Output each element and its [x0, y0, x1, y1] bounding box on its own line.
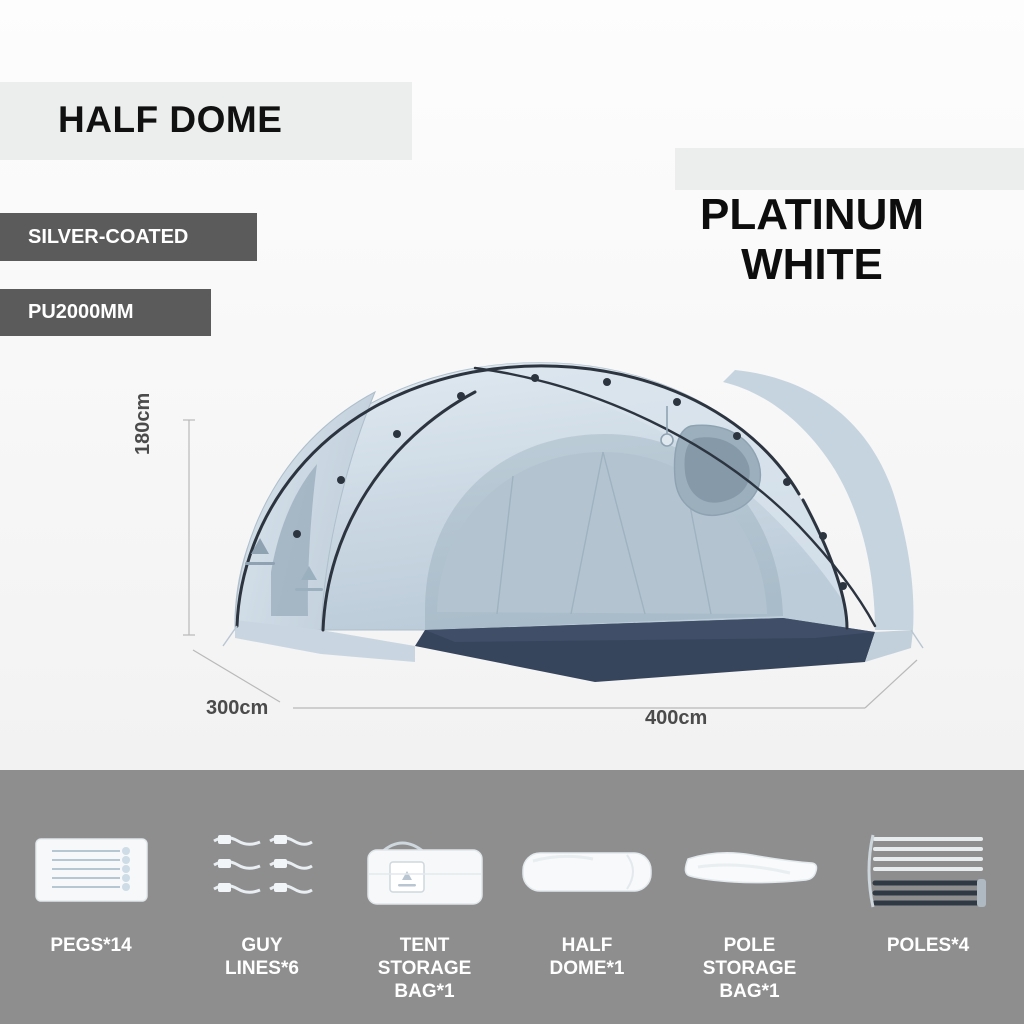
guy-lines-icon: [202, 826, 322, 918]
title-plate: HALF DOME: [0, 82, 412, 160]
tent-storage-bag-icon: [360, 826, 490, 918]
product-infographic: HALF DOME SILVER-COATED PU2000MM PLATINU…: [0, 0, 1024, 1024]
accessory-poles: POLES*4: [832, 770, 1024, 1024]
accessory-label-tent-storage-bag: TENT STORAGE BAG*1: [378, 934, 472, 1003]
pegs-icon: [34, 826, 149, 918]
badge-silver-coated: SILVER-COATED: [0, 213, 257, 261]
tent-illustration: [175, 330, 965, 750]
accessories-section: PEGS*14: [0, 770, 1024, 1024]
accessory-pegs: PEGS*14: [0, 770, 182, 1024]
accessory-label-pole-storage-bag: POLE STORAGE BAG*1: [703, 934, 797, 1003]
pole-storage-bag-icon: [680, 826, 820, 918]
accessories-row: PEGS*14: [0, 770, 1024, 1024]
page-title: HALF DOME: [58, 99, 282, 141]
hero-section: HALF DOME SILVER-COATED PU2000MM PLATINU…: [0, 0, 1024, 770]
accessory-half-dome: HALF DOME*1: [507, 770, 667, 1024]
half-dome-icon: [517, 826, 657, 918]
dimension-width-label: 400cm: [645, 707, 707, 730]
color-name-line-2: WHITE: [600, 240, 1024, 290]
accessory-label-poles: POLES*4: [887, 934, 969, 957]
accessory-label-guy-lines: GUY LINES*6: [225, 934, 299, 980]
accessory-label-half-dome: HALF DOME*1: [550, 934, 625, 980]
accessory-pole-storage-bag: POLE STORAGE BAG*1: [667, 770, 832, 1024]
color-name: PLATINUM WHITE: [600, 190, 1024, 290]
accessory-tent-storage-bag: TENT STORAGE BAG*1: [342, 770, 507, 1024]
dimension-height-label: 180cm: [132, 393, 155, 455]
color-name-plate: [675, 148, 1024, 190]
accessory-label-pegs: PEGS*14: [50, 934, 131, 957]
color-name-line-1: PLATINUM: [600, 190, 1024, 240]
poles-icon: [861, 826, 996, 918]
dimension-depth-label: 300cm: [206, 697, 268, 720]
badge-pu2000mm: PU2000MM: [0, 289, 211, 336]
accessory-guy-lines: GUY LINES*6: [182, 770, 342, 1024]
